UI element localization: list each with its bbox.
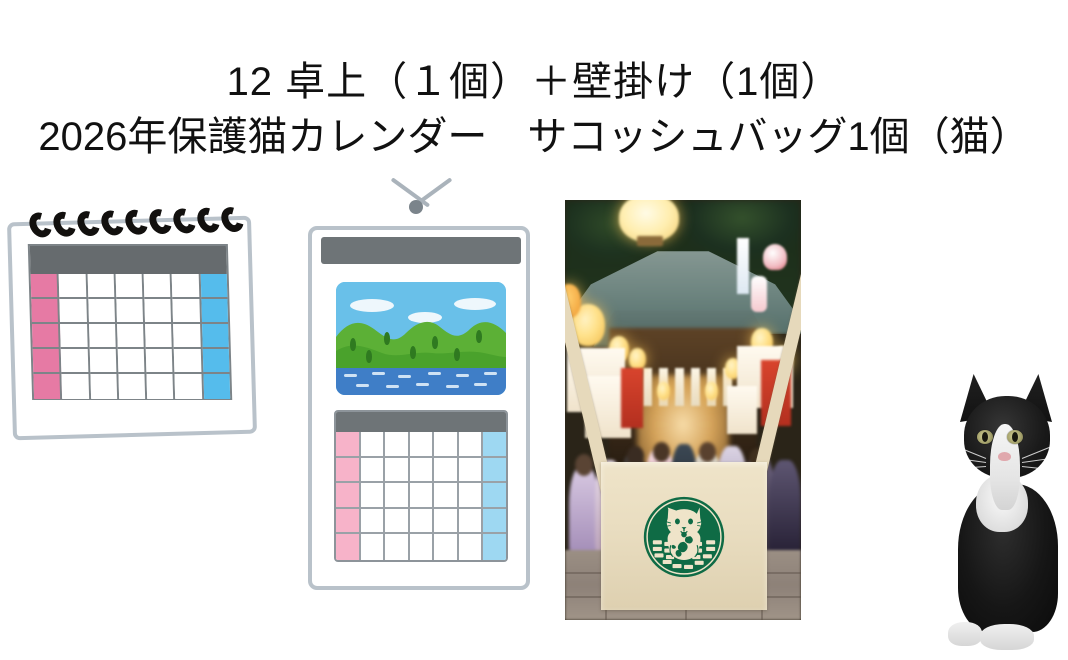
paper-lantern (705, 382, 718, 400)
cat-japan-map-logo (643, 496, 725, 578)
shrine-paper-streamer (675, 368, 684, 406)
crowd-person-head (575, 454, 593, 476)
wall-calendar-grid-header (336, 412, 506, 432)
calendar-day-cell (385, 509, 410, 535)
spiral-ring-icon (97, 206, 128, 239)
desk-calendar-header-bar (30, 246, 227, 274)
spiral-ring-icon (169, 204, 200, 237)
kitten-pupil (1012, 432, 1018, 442)
title-line-1: 12 卓上（１個）＋壁掛け（1個） (0, 55, 1068, 109)
scenery-tree (410, 346, 416, 359)
calendar-day-cell (410, 432, 435, 458)
scenery-tree (384, 332, 390, 345)
calendar-day-cell (32, 324, 61, 349)
calendar-day-cell (336, 509, 361, 535)
calendar-day-cell (175, 374, 204, 399)
calendar-day-cell (201, 299, 228, 324)
wall-calendar-week-rows (336, 432, 506, 560)
calendar-day-cell (33, 349, 62, 374)
festival-paper-strip (737, 238, 749, 294)
calendar-day-cell (336, 483, 361, 509)
calendar-day-cell (410, 483, 435, 509)
paper-lantern-cap (637, 236, 663, 246)
calendar-day-cell (483, 432, 506, 458)
calendar-day-cell (89, 349, 118, 374)
crowd-person (769, 460, 801, 562)
calendar-day-cell (60, 324, 89, 349)
rescue-kitten-photo (944, 378, 1068, 656)
calendar-day-cell (202, 349, 229, 374)
calendar-day-cell (118, 349, 147, 374)
calendar-week-row (31, 274, 228, 299)
spiral-ring-icon (121, 206, 152, 239)
calendar-week-row (33, 374, 230, 399)
calendar-day-cell (118, 374, 147, 399)
calendar-day-cell (117, 324, 146, 349)
spiral-ring-icon (49, 208, 80, 241)
scenery-water (336, 368, 506, 395)
calendar-day-cell (410, 509, 435, 535)
calendar-day-cell (61, 349, 90, 374)
calendar-day-cell (90, 374, 119, 399)
calendar-day-cell (361, 534, 386, 560)
calendar-day-cell (410, 534, 435, 560)
calendar-day-cell (336, 458, 361, 484)
wall-calendar-board (308, 226, 530, 590)
title-line-2: 2026年保護猫カレンダー サコッシュバッグ1個（猫） (0, 109, 1068, 165)
festival-stall-banner (727, 386, 757, 434)
calendar-day-cell (459, 432, 484, 458)
calendar-day-cell (434, 534, 459, 560)
desk-calendar-illustration (10, 205, 300, 450)
wall-calendar-month-grid (334, 410, 508, 562)
calendar-week-row (336, 483, 506, 509)
scenery-tree (454, 348, 460, 361)
paper-lantern (657, 382, 670, 400)
scenery-wave (446, 385, 459, 388)
crowd-person-head (699, 442, 716, 462)
calendar-day-cell (146, 349, 175, 374)
calendar-week-row (336, 458, 506, 484)
page-title: 12 卓上（１個）＋壁掛け（1個） 2026年保護猫カレンダー サコッシュバッグ… (0, 55, 1068, 165)
spiral-ring-icon (217, 203, 248, 236)
kitten-eye-right (1007, 430, 1023, 444)
calendar-day-cell (434, 509, 459, 535)
scenery-wave (416, 383, 429, 386)
calendar-day-cell (483, 483, 506, 509)
calendar-day-cell (147, 374, 176, 399)
calendar-day-cell (144, 299, 173, 324)
sacoche-bag-product-photo (565, 200, 801, 620)
calendar-day-cell (203, 374, 230, 399)
calendar-day-cell (31, 274, 60, 299)
desk-calendar-month-grid (28, 244, 232, 400)
scenery-wave (474, 383, 487, 386)
calendar-day-cell (89, 324, 118, 349)
calendar-day-cell (361, 483, 386, 509)
calendar-day-cell (116, 299, 145, 324)
calendar-day-cell (410, 458, 435, 484)
scenery-tree (432, 336, 438, 349)
calendar-week-row (31, 299, 228, 324)
calendar-day-cell (434, 432, 459, 458)
calendar-day-cell (459, 534, 484, 560)
spiral-ring-icon (73, 207, 104, 240)
scenery-wave (484, 372, 497, 375)
scenery-wave (344, 374, 357, 377)
shrine-paper-streamer (691, 368, 700, 406)
calendar-day-cell (87, 274, 116, 299)
calendar-day-cell (173, 324, 202, 349)
kitten-nose (998, 452, 1011, 461)
calendar-day-cell (31, 299, 60, 324)
calendar-day-cell (202, 324, 229, 349)
scenery-tree (366, 350, 372, 363)
calendar-day-cell (361, 509, 386, 535)
calendar-day-cell (434, 458, 459, 484)
wind-chime-tail (751, 276, 767, 312)
calendar-day-cell (459, 483, 484, 509)
calendar-day-cell (361, 458, 386, 484)
calendar-day-cell (60, 299, 89, 324)
wall-calendar-illustration (290, 200, 550, 600)
calendar-day-cell (434, 483, 459, 509)
calendar-day-cell (174, 349, 203, 374)
calendar-day-cell (145, 324, 174, 349)
spiral-ring-icon (145, 205, 176, 238)
calendar-day-cell (361, 432, 386, 458)
wind-chime (763, 244, 787, 270)
calendar-day-cell (59, 274, 88, 299)
wall-calendar-hook-icon (409, 200, 423, 214)
calendar-day-cell (336, 432, 361, 458)
scenery-tree (350, 338, 356, 351)
scenery-wave (386, 385, 399, 388)
spiral-ring-icon (25, 208, 56, 241)
calendar-week-row (33, 349, 230, 374)
calendar-week-row (336, 534, 506, 560)
promo-image-canvas: 12 卓上（１個）＋壁掛け（1個） 2026年保護猫カレンダー サコッシュバッグ… (0, 0, 1068, 660)
wall-calendar-scenery-photo (336, 282, 506, 395)
calendar-day-cell (336, 534, 361, 560)
calendar-day-cell (385, 458, 410, 484)
shrine-paper-streamer (643, 368, 652, 406)
scenery-wave (398, 375, 411, 378)
calendar-day-cell (483, 509, 506, 535)
calendar-day-cell (172, 274, 201, 299)
scenery-wave (356, 384, 369, 387)
spiral-ring-icon (193, 204, 224, 237)
calendar-day-cell (62, 374, 91, 399)
desk-calendar-spiral-binding (30, 202, 261, 242)
kitten-eye-left (977, 430, 993, 444)
calendar-day-cell (88, 299, 117, 324)
calendar-day-cell (144, 274, 173, 299)
festival-stall-banner-red (621, 368, 643, 428)
calendar-week-row (336, 509, 506, 535)
calendar-week-row (336, 432, 506, 458)
calendar-day-cell (385, 483, 410, 509)
kitten-paw-left (948, 622, 982, 646)
calendar-day-cell (459, 458, 484, 484)
crowd-person-head (653, 442, 670, 462)
calendar-day-cell (173, 299, 202, 324)
kitten-pupil (982, 432, 988, 442)
calendar-week-row (32, 324, 229, 349)
kitten-paw-right (980, 624, 1034, 650)
calendar-day-cell (483, 458, 506, 484)
scenery-wave (456, 374, 469, 377)
calendar-day-cell (459, 509, 484, 535)
scenery-wave (372, 372, 385, 375)
scenery-wave (428, 372, 441, 375)
calendar-day-cell (200, 274, 227, 299)
wall-calendar-header-bar (321, 237, 521, 264)
calendar-day-cell (385, 534, 410, 560)
calendar-day-cell (33, 374, 62, 399)
cat-emblem-icon (643, 496, 725, 578)
calendar-day-cell (115, 274, 144, 299)
sacoche-bag-body (601, 462, 767, 610)
desk-calendar-week-rows (31, 274, 231, 399)
scenery-tree (476, 330, 482, 343)
paper-lantern (629, 348, 646, 370)
calendar-day-cell (385, 432, 410, 458)
calendar-day-cell (483, 534, 506, 560)
